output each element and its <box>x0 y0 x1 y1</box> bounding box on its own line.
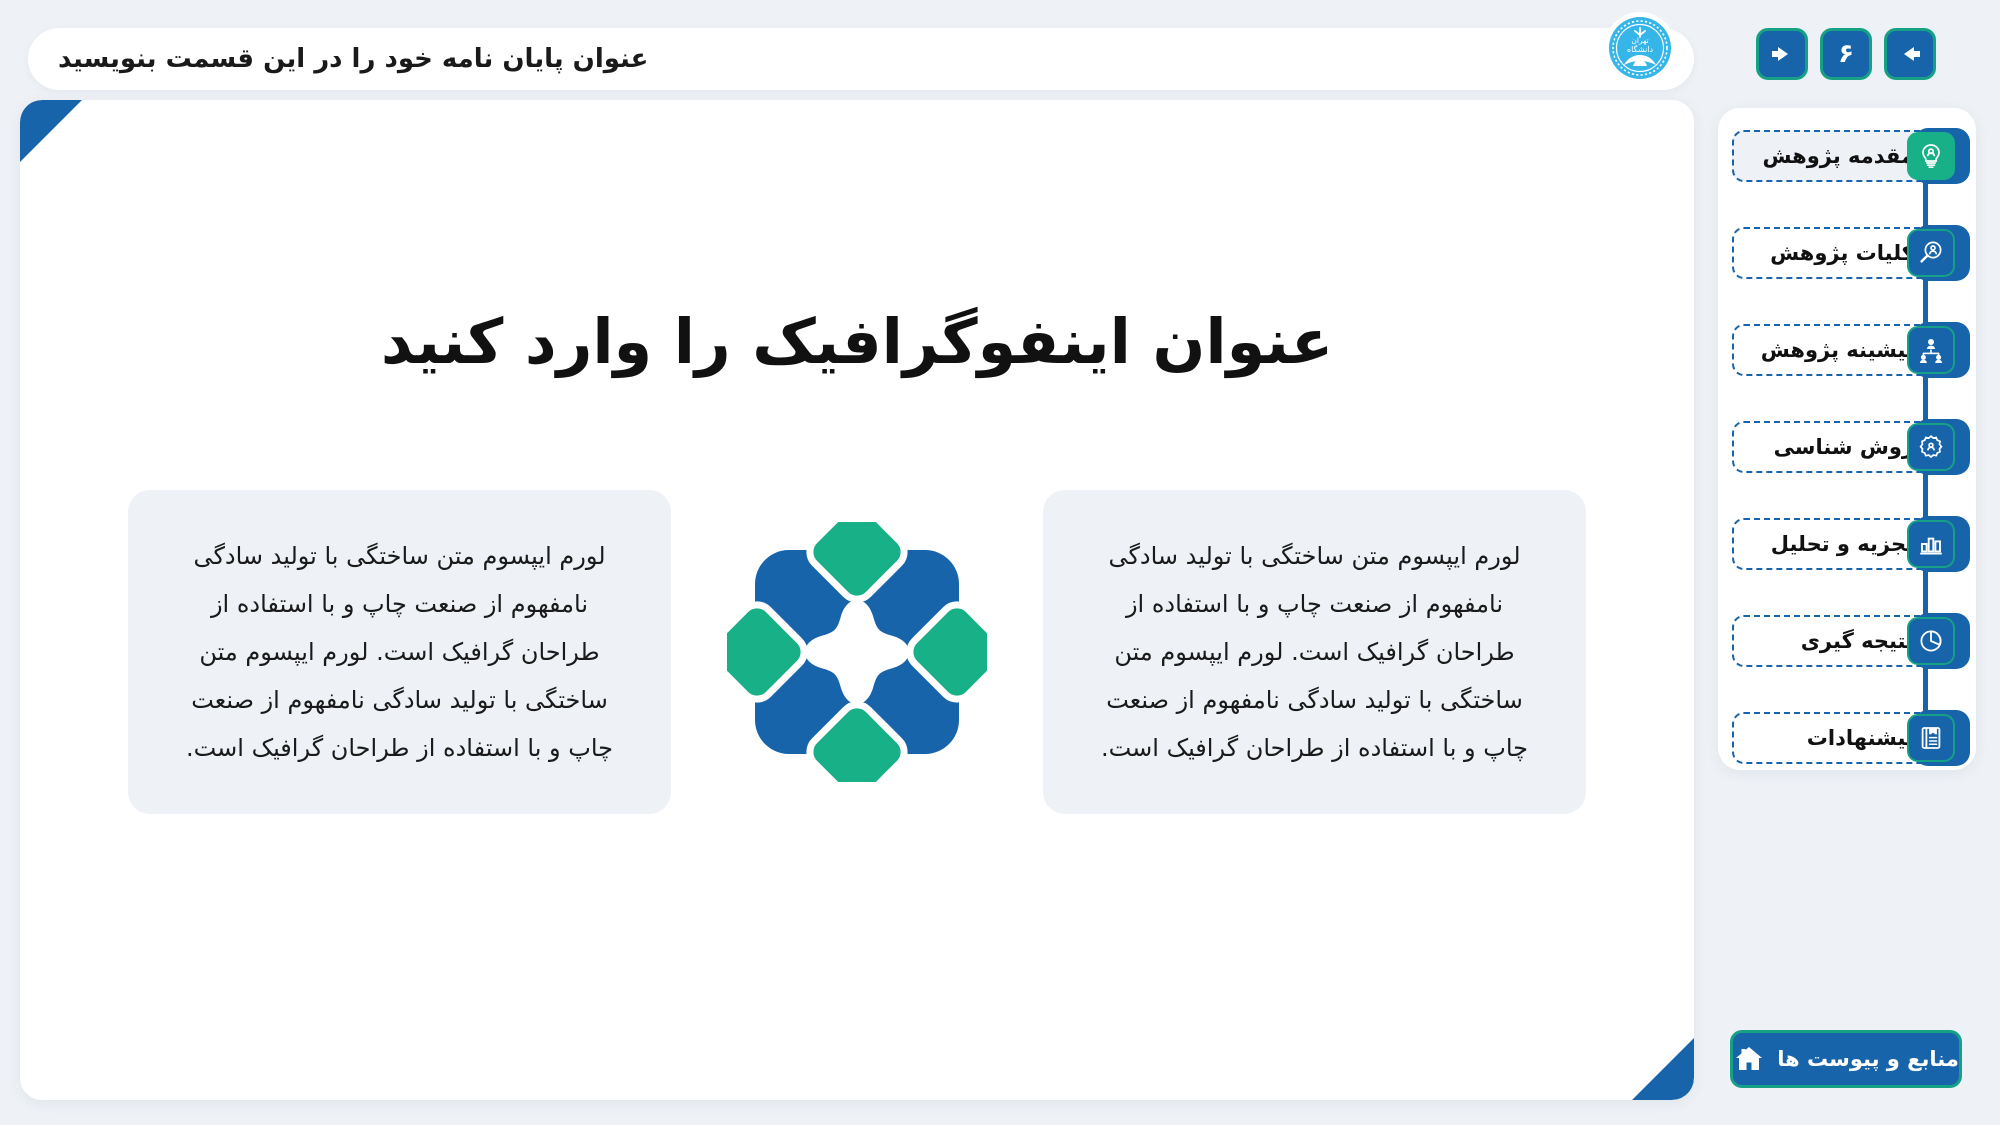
four-diamond-star-emblem <box>727 522 987 782</box>
sidebar-item-kolliyat[interactable]: کلیات پژوهش <box>1732 227 1934 279</box>
infographic-title: عنوان اینفوگرافیک را وارد کنید <box>20 305 1694 378</box>
content-row: لورم ایپسوم متن ساختگی با تولید سادگی نا… <box>20 490 1694 814</box>
header-bar: عنوان پایان نامه خود را در این قسمت بنوی… <box>28 28 1694 90</box>
lightbulb-person-icon[interactable] <box>1907 132 1955 180</box>
gear-person-icon[interactable] <box>1907 423 1955 471</box>
bar-chart-icon[interactable] <box>1907 520 1955 568</box>
slide-canvas: عنوان اینفوگرافیک را وارد کنید لورم ایپس… <box>20 100 1694 1100</box>
text-card-left-body: لورم ایپسوم متن ساختگی با تولید سادگی نا… <box>168 532 631 772</box>
references-attachments-label: منابع و پیوست ها <box>1777 1047 1959 1071</box>
next-page-button[interactable] <box>1756 28 1808 80</box>
sidebar-item-natijegiri[interactable]: نتیجه گیری <box>1732 615 1934 667</box>
presentation-app: عنوان پایان نامه خود را در این قسمت بنوی… <box>0 0 2000 1125</box>
book-icon[interactable] <box>1907 714 1955 762</box>
sidebar-item-tajzie-tahlil[interactable]: تجزیه و تحلیل <box>1732 518 1934 570</box>
magnifier-person-icon[interactable] <box>1907 229 1955 277</box>
text-card-right: لورم ایپسوم متن ساختگی با تولید سادگی نا… <box>1043 490 1586 814</box>
text-card-left: لورم ایپسوم متن ساختگی با تولید سادگی نا… <box>128 490 671 814</box>
arrow-right-icon <box>1769 41 1795 67</box>
org-chart-people-icon[interactable] <box>1907 326 1955 374</box>
page-navigation: ۶ <box>1756 28 1936 80</box>
sidebar-item-label: کلیات پژوهش <box>1734 241 1918 265</box>
sidebar-item-label: روش شناسی <box>1734 435 1918 459</box>
corner-decoration-top-left <box>20 100 82 162</box>
svg-text:دانشگاه: دانشگاه <box>1627 44 1654 54</box>
sidebar-menu: مقدمه پژوهش کلیات پژوهش پی <box>1718 108 1976 770</box>
references-attachments-button[interactable]: منابع و پیوست ها <box>1730 1030 1962 1088</box>
page-number-label: ۶ <box>1838 41 1854 67</box>
sidebar-item-label: مقدمه پژوهش <box>1734 144 1918 168</box>
sidebar-item-pishnahadat[interactable]: پیشنهادات <box>1732 712 1934 764</box>
arrow-left-icon <box>1897 41 1923 67</box>
pie-chart-icon[interactable] <box>1907 617 1955 665</box>
sidebar-item-label: پیشنهادات <box>1734 726 1918 750</box>
corner-decoration-bottom-right <box>1632 1038 1694 1100</box>
page-number-badge[interactable]: ۶ <box>1820 28 1872 80</box>
sidebar-item-pishine[interactable]: پیشینه پژوهش <box>1732 324 1934 376</box>
sidebar-item-moghaddame[interactable]: مقدمه پژوهش <box>1732 130 1934 182</box>
text-card-right-body: لورم ایپسوم متن ساختگی با تولید سادگی نا… <box>1083 532 1546 772</box>
sidebar-item-label: پیشینه پژوهش <box>1734 338 1918 362</box>
university-of-tehran-logo: تهران دانشگاه <box>1604 12 1676 84</box>
thesis-title: عنوان پایان نامه خود را در این قسمت بنوی… <box>58 44 648 74</box>
sidebar-item-raveshshenasi[interactable]: روش شناسی <box>1732 421 1934 473</box>
prev-page-button[interactable] <box>1884 28 1936 80</box>
sidebar-item-label: نتیجه گیری <box>1734 629 1918 653</box>
home-icon <box>1733 1043 1765 1075</box>
svg-text:تهران: تهران <box>1631 36 1648 45</box>
sidebar-item-label: تجزیه و تحلیل <box>1734 532 1918 556</box>
